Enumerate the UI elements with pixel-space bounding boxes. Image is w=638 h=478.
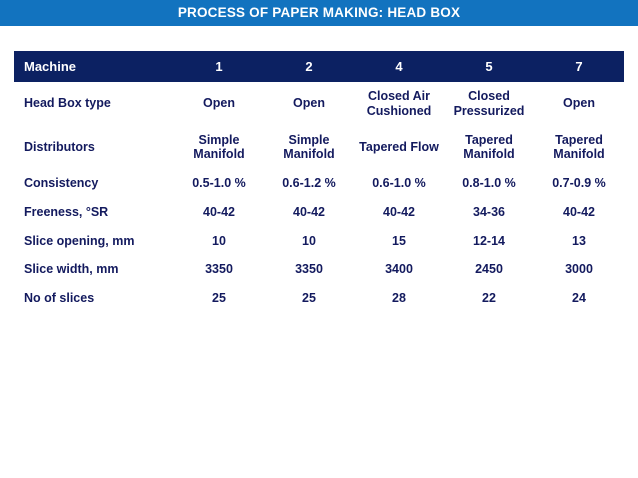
cell-value: 3350 <box>174 255 264 284</box>
cell-value: 2450 <box>444 255 534 284</box>
cell-value: 34-36 <box>444 198 534 227</box>
table-row: Head Box type Open Open Closed Air Cushi… <box>14 82 624 126</box>
table-row: Slice opening, mm 10 10 15 12-14 13 <box>14 227 624 256</box>
table-row: Consistency 0.5-1.0 % 0.6-1.2 % 0.6-1.0 … <box>14 169 624 198</box>
cell-value: 25 <box>264 284 354 313</box>
cell-value: 0.6-1.0 % <box>354 169 444 198</box>
cell-value: Closed Air Cushioned <box>354 82 444 126</box>
cell-value: Tapered Flow <box>354 126 444 170</box>
cell-value: 40-42 <box>264 198 354 227</box>
cell-value: Open <box>534 82 624 126</box>
cell-value: 3400 <box>354 255 444 284</box>
column-header-7: 7 <box>534 51 624 82</box>
row-label: Slice opening, mm <box>14 227 174 256</box>
cell-value: 10 <box>174 227 264 256</box>
cell-value: Simple Manifold <box>174 126 264 170</box>
table-row: No of slices 25 25 28 22 24 <box>14 284 624 313</box>
cell-value: 0.7-0.9 % <box>534 169 624 198</box>
cell-value: 10 <box>264 227 354 256</box>
row-label: Consistency <box>14 169 174 198</box>
column-header-4: 4 <box>354 51 444 82</box>
cell-value: Open <box>174 82 264 126</box>
table-row: Slice width, mm 3350 3350 3400 2450 3000 <box>14 255 624 284</box>
cell-value: 3000 <box>534 255 624 284</box>
cell-value: 22 <box>444 284 534 313</box>
cell-value: 40-42 <box>174 198 264 227</box>
table-header: Machine 1 2 4 5 7 <box>14 51 624 82</box>
row-label: Slice width, mm <box>14 255 174 284</box>
row-label: Distributors <box>14 126 174 170</box>
column-header-machine: Machine <box>14 51 174 82</box>
cell-value: Open <box>264 82 354 126</box>
cell-value: 28 <box>354 284 444 313</box>
cell-value: 0.6-1.2 % <box>264 169 354 198</box>
column-header-5: 5 <box>444 51 534 82</box>
column-header-2: 2 <box>264 51 354 82</box>
slide-title: PROCESS OF PAPER MAKING: HEAD BOX <box>178 6 460 20</box>
table-body: Head Box type Open Open Closed Air Cushi… <box>14 82 624 313</box>
row-label: Head Box type <box>14 82 174 126</box>
cell-value: Simple Manifold <box>264 126 354 170</box>
column-header-1: 1 <box>174 51 264 82</box>
row-label: No of slices <box>14 284 174 313</box>
table-row: Distributors Simple Manifold Simple Mani… <box>14 126 624 170</box>
cell-value: Tapered Manifold <box>444 126 534 170</box>
slide-canvas: PROCESS OF PAPER MAKING: HEAD BOX Machin… <box>0 0 638 478</box>
cell-value: 40-42 <box>534 198 624 227</box>
headbox-specs-table-container: Machine 1 2 4 5 7 Head Box type Open Ope… <box>14 51 624 313</box>
cell-value: Tapered Manifold <box>534 126 624 170</box>
cell-value: 0.8-1.0 % <box>444 169 534 198</box>
cell-value: Closed Pressurized <box>444 82 534 126</box>
table-header-row: Machine 1 2 4 5 7 <box>14 51 624 82</box>
row-label: Freeness, °SR <box>14 198 174 227</box>
cell-value: 3350 <box>264 255 354 284</box>
cell-value: 40-42 <box>354 198 444 227</box>
cell-value: 15 <box>354 227 444 256</box>
slide-title-bar: PROCESS OF PAPER MAKING: HEAD BOX <box>0 0 638 26</box>
cell-value: 13 <box>534 227 624 256</box>
headbox-specs-table: Machine 1 2 4 5 7 Head Box type Open Ope… <box>14 51 624 313</box>
table-row: Freeness, °SR 40-42 40-42 40-42 34-36 40… <box>14 198 624 227</box>
cell-value: 25 <box>174 284 264 313</box>
cell-value: 12-14 <box>444 227 534 256</box>
cell-value: 24 <box>534 284 624 313</box>
cell-value: 0.5-1.0 % <box>174 169 264 198</box>
